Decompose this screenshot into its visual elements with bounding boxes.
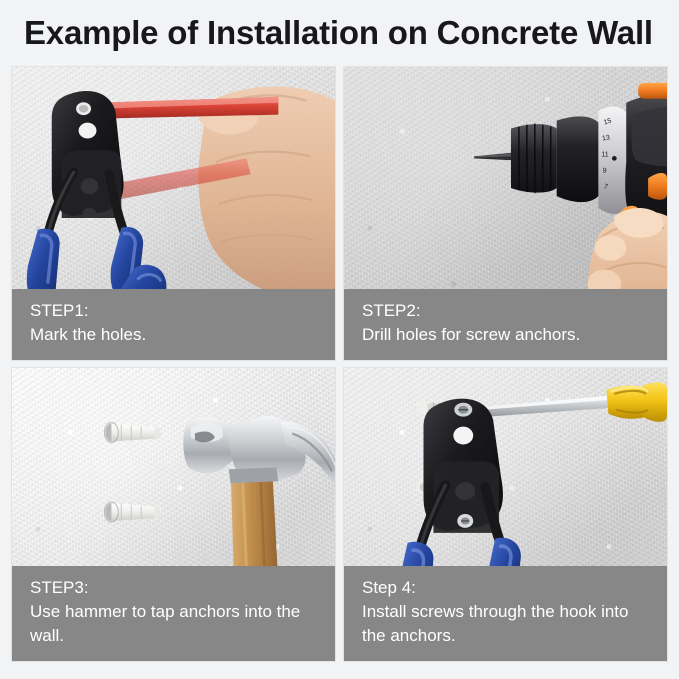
- wall-anchor-lower: [104, 502, 161, 522]
- step-2-caption: STEP2: Drill holes for screw anchors.: [344, 289, 667, 360]
- screwdriver: [471, 382, 667, 421]
- step-panel-2: 15 13 11 9 7: [343, 66, 668, 361]
- step-panel-1: STEP1: Mark the holes.: [11, 66, 336, 361]
- svg-text:11: 11: [601, 151, 608, 158]
- step-4-label: Step 4:: [362, 576, 651, 600]
- step-1-instruction: Mark the holes.: [30, 323, 319, 347]
- step-4-instruction: Install screws through the hook into the…: [362, 600, 651, 648]
- step-2-label: STEP2:: [362, 299, 651, 323]
- step-3-instruction: Use hammer to tap anchors into the wall.: [30, 600, 319, 648]
- step-3-label: STEP3:: [30, 576, 319, 600]
- step-panel-3: STEP3: Use hammer to tap anchors into th…: [11, 367, 336, 662]
- step-1-label: STEP1:: [30, 299, 319, 323]
- step-panel-grid: STEP1: Mark the holes.: [11, 66, 668, 662]
- step-panel-4: Step 4: Install screws through the hook …: [343, 367, 668, 662]
- step-4-caption: Step 4: Install screws through the hook …: [344, 566, 667, 661]
- drill-chuck: [511, 116, 598, 202]
- step-1-caption: STEP1: Mark the holes.: [12, 289, 335, 360]
- clutch-ring: 15 13 11 9 7: [598, 106, 626, 214]
- wall-anchor-upper: [104, 423, 161, 443]
- svg-text:13: 13: [602, 134, 611, 142]
- page-title: Example of Installation on Concrete Wall: [24, 11, 664, 55]
- installation-guide-page: Example of Installation on Concrete Wall: [0, 0, 679, 679]
- step-3-caption: STEP3: Use hammer to tap anchors into th…: [12, 566, 335, 661]
- drill-bit: [474, 152, 515, 160]
- step-2-instruction: Drill holes for screw anchors.: [362, 323, 651, 347]
- hand-right: [198, 86, 335, 303]
